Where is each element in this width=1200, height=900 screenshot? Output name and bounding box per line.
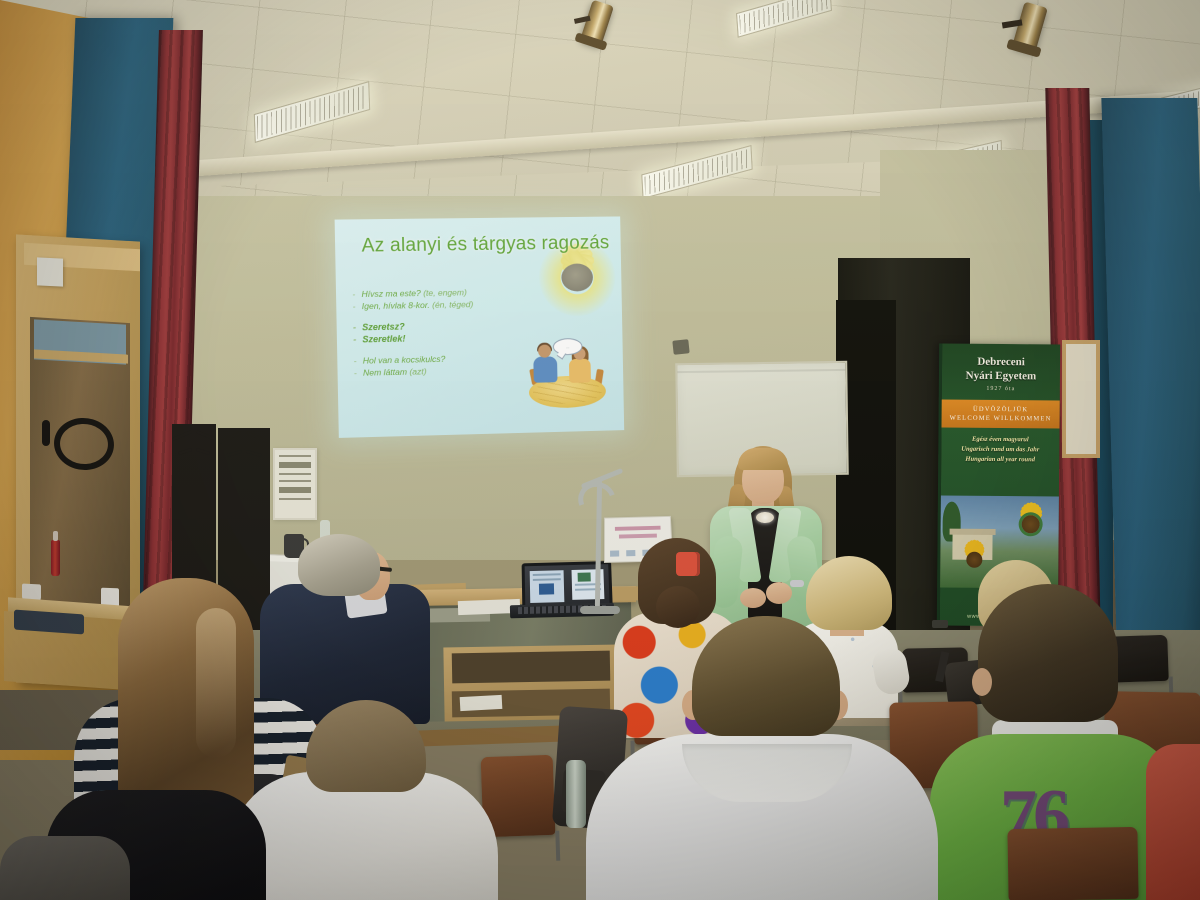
notice-board-left xyxy=(273,448,317,520)
hair-clip xyxy=(676,552,700,576)
presenter-hand xyxy=(740,588,766,608)
lecture-room-photo: Az alanyi és tárgyas ragozás -Hívsz ma e… xyxy=(0,0,1200,900)
laptop-window-left xyxy=(530,570,565,603)
chair[interactable] xyxy=(1007,827,1138,900)
projected-slide: Az alanyi és tárgyas ragozás -Hívsz ma e… xyxy=(335,216,625,437)
banner-since: 1927 óta xyxy=(942,386,1060,393)
wall-speaker xyxy=(672,339,689,355)
water-bottle xyxy=(566,760,586,828)
cable-hook xyxy=(42,420,50,446)
slide-title: Az alanyi és tárgyas ragozás xyxy=(361,232,611,257)
notice-board-right xyxy=(1062,340,1100,458)
dark-hair xyxy=(978,584,1118,722)
audience-person-white-jacket xyxy=(228,700,498,900)
short-hair xyxy=(692,616,840,736)
banner-welcome-en-de: WELCOME WILLKOMMEN xyxy=(942,414,1060,424)
sunflower-icon xyxy=(1006,500,1054,548)
audience-person-red-sleeve xyxy=(1146,744,1200,900)
foreground-shoulder xyxy=(0,836,130,900)
slide-cartoon-illustration: ... xyxy=(520,335,612,413)
presenter-necklace xyxy=(756,512,774,523)
slide-bullet: -Igen, hívlak 8-kor. (én, téged) xyxy=(352,297,553,313)
banner-tagline-en: Hungarian all year round xyxy=(941,454,1059,465)
wall-mounted-box xyxy=(37,257,63,286)
slide-bullet-group-1: -Hívsz ma este? (te, engem) -Igen, hívla… xyxy=(352,285,553,312)
banner-taglines: Egész éven magyarul Ungarisch rund um da… xyxy=(941,435,1059,466)
bottle xyxy=(51,540,60,576)
banner-title-line1: Debreceni xyxy=(942,356,1060,370)
banner-title-line2: Nyári Egyetem xyxy=(942,370,1060,384)
presenter-fringe xyxy=(738,448,788,470)
banner-welcome-band: ÜDVÖZÖLJÜK WELCOME WILLKOMMEN xyxy=(941,400,1059,429)
audience-man-white-hoodie xyxy=(586,616,938,900)
presenter-hand xyxy=(766,582,792,604)
hair xyxy=(306,700,426,792)
ear xyxy=(972,668,992,696)
